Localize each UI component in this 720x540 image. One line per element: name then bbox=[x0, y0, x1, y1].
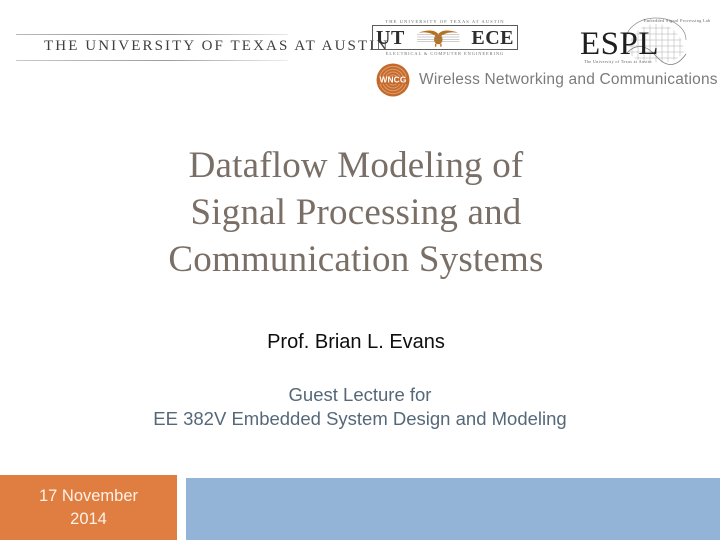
espl-logo: ESPL Embedded Signal Processing Laborato… bbox=[578, 10, 710, 68]
page-title-line-1: Dataflow Modeling of bbox=[60, 142, 652, 189]
svg-text:Embedded Signal Processing Lab: Embedded Signal Processing Laboratory bbox=[644, 18, 710, 23]
date-badge-text: 17 November 2014 bbox=[39, 485, 138, 531]
ut-ece-logo-top-text: THE UNIVERSITY OF TEXAS AT AUSTIN bbox=[372, 19, 518, 24]
ut-austin-wordmark: THE UNIVERSITY OF TEXAS AT AUSTIN bbox=[16, 34, 288, 61]
ut-austin-wordmark-text: THE UNIVERSITY OF TEXAS AT AUSTIN bbox=[16, 35, 288, 58]
title-slide: THE UNIVERSITY OF TEXAS AT AUSTIN THE UN… bbox=[0, 0, 720, 540]
occasion-line-1: Guest Lecture for bbox=[30, 383, 690, 407]
wordmark-rule-bottom bbox=[16, 60, 288, 61]
occasion-block: Guest Lecture for EE 382V Embedded Syste… bbox=[30, 383, 690, 431]
ut-ece-logo: THE UNIVERSITY OF TEXAS AT AUSTIN UT bbox=[372, 19, 518, 56]
ut-ece-logo-bottom-text: ELECTRICAL & COMPUTER ENGINEERING bbox=[372, 51, 518, 56]
svg-text:The University of Texas at Aus: The University of Texas at Austin bbox=[584, 59, 652, 64]
ut-ece-logo-ut-text: UT bbox=[373, 28, 408, 48]
ut-ece-logo-box: UT bbox=[372, 25, 518, 50]
page-title: Dataflow Modeling of Signal Processing a… bbox=[60, 142, 652, 283]
wncg-logo: WNCG Wireless Networking and Communicati… bbox=[376, 63, 720, 97]
svg-text:ESPL: ESPL bbox=[580, 26, 659, 62]
footer-accent-bar bbox=[186, 478, 720, 540]
date-line-1: 17 November bbox=[39, 485, 138, 508]
presenter-name: Prof. Brian L. Evans bbox=[60, 331, 652, 354]
date-badge: 17 November 2014 bbox=[0, 475, 177, 540]
page-title-line-2: Signal Processing and bbox=[60, 189, 652, 236]
wncg-circle-icon: WNCG bbox=[376, 63, 410, 97]
page-title-line-3: Communication Systems bbox=[60, 236, 652, 283]
svg-text:WNCG: WNCG bbox=[380, 75, 407, 85]
date-line-2: 2014 bbox=[39, 508, 138, 531]
occasion-line-2: EE 382V Embedded System Design and Model… bbox=[30, 407, 690, 431]
ut-ece-logo-ece-text: ECE bbox=[468, 28, 517, 48]
wncg-label: Wireless Networking and Communications G… bbox=[419, 71, 720, 89]
longhorn-icon bbox=[408, 26, 469, 49]
